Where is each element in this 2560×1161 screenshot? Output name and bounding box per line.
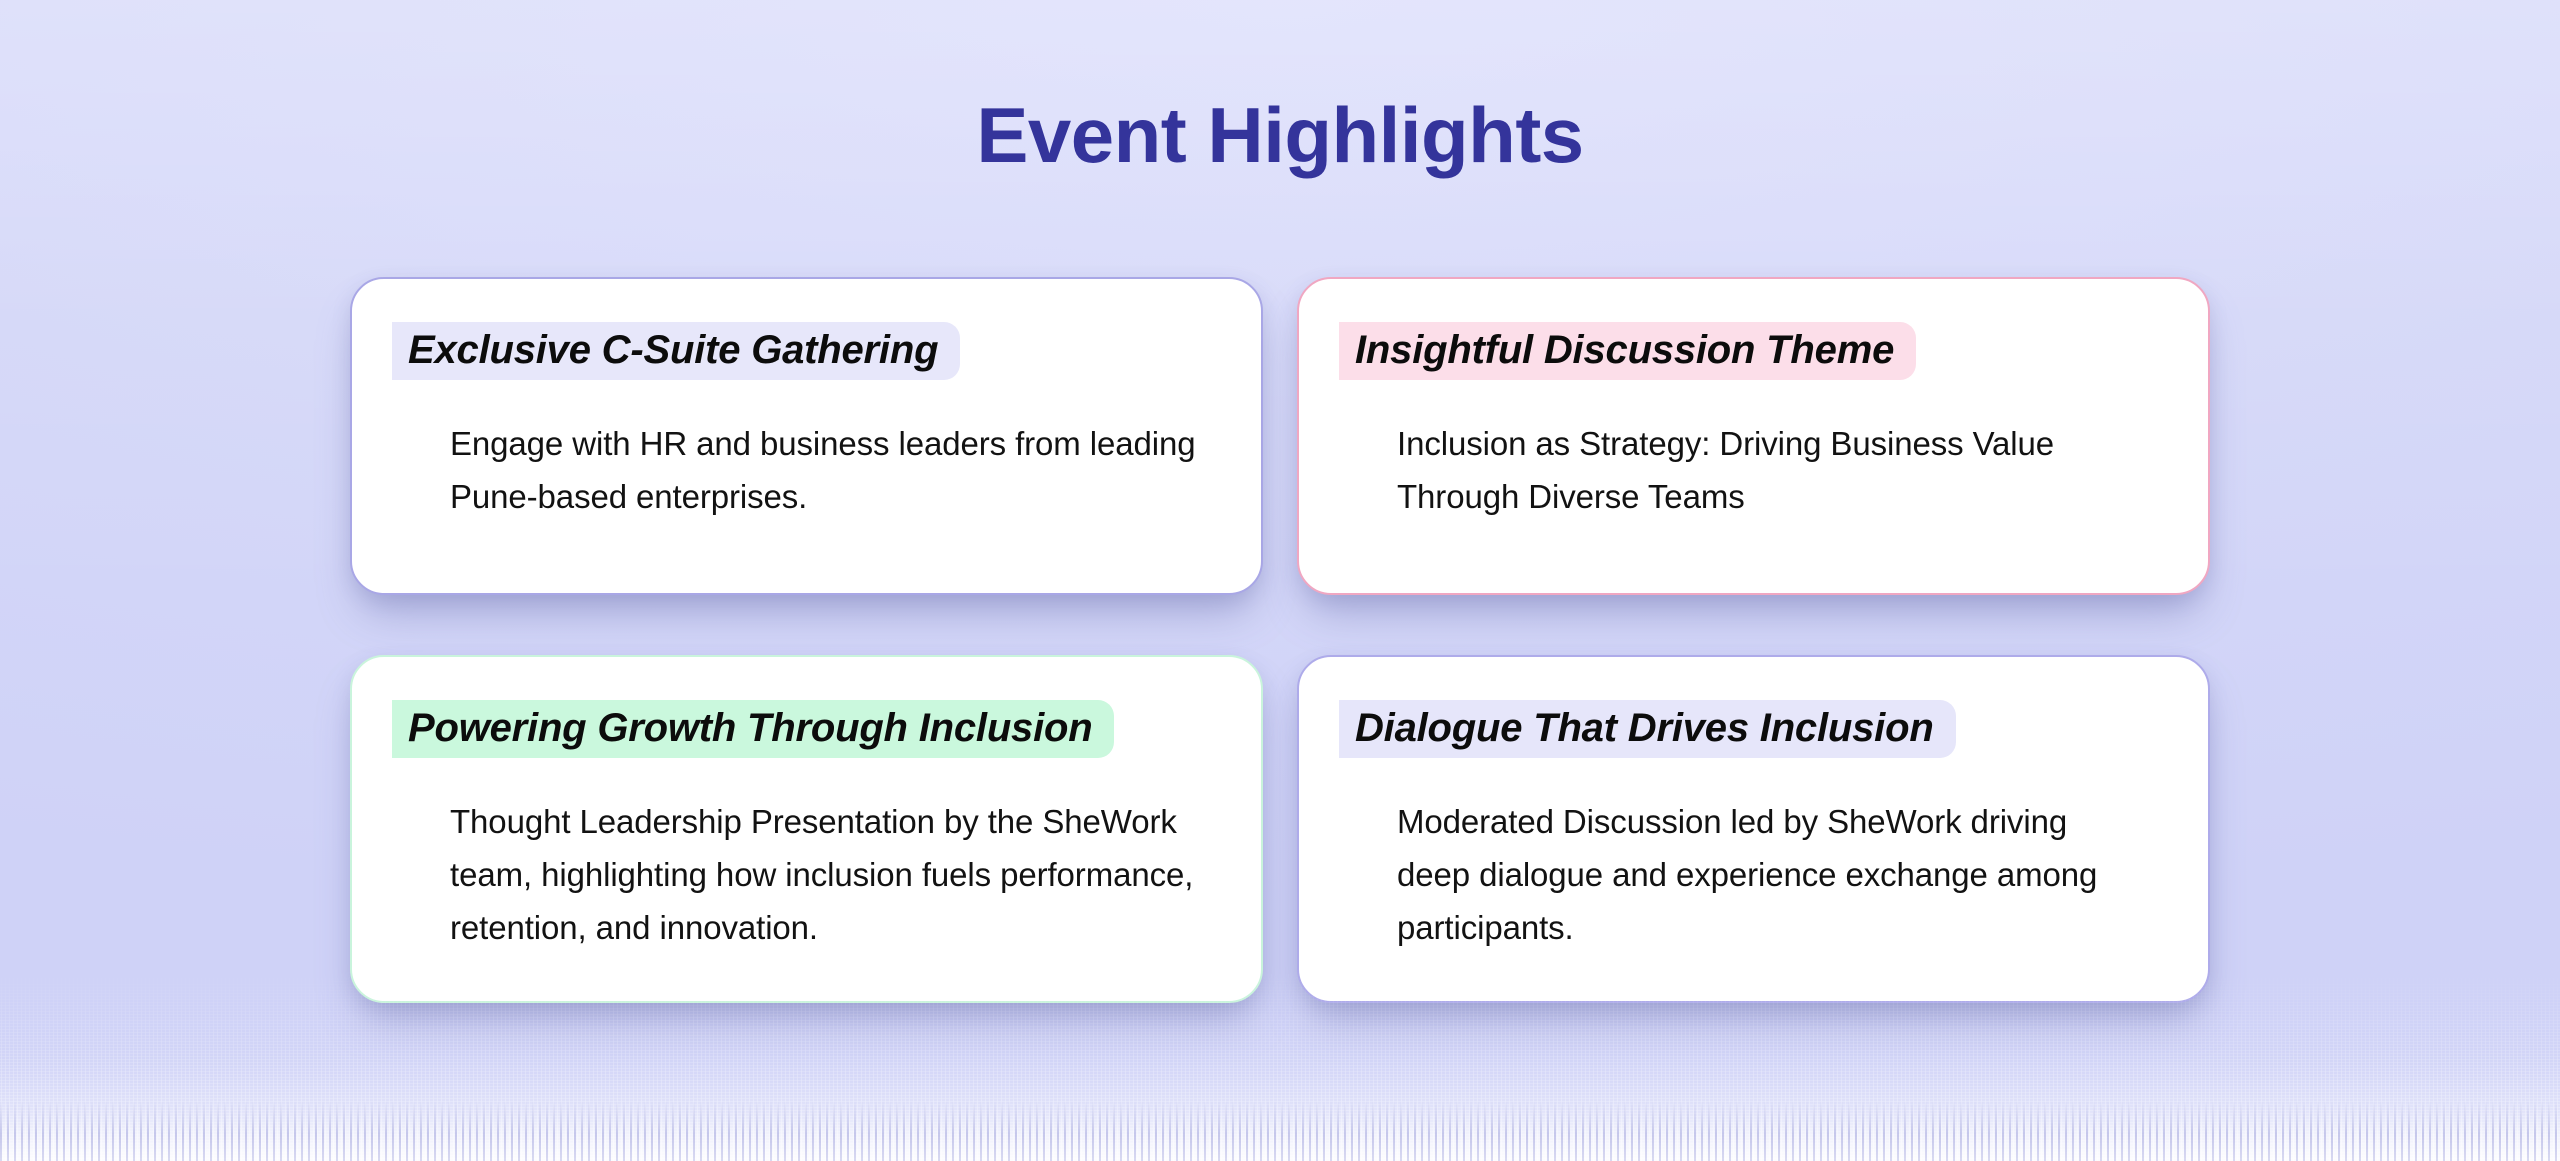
bottom-dither-band [0,1101,2560,1161]
card-heading-row: Exclusive C-Suite Gathering [392,321,1217,380]
card-body: Thought Leadership Presentation by the S… [392,796,1217,954]
highlight-card-insightful-discussion-theme[interactable]: Insightful Discussion Theme Inclusion as… [1297,277,2210,595]
card-heading-row: Powering Growth Through Inclusion [392,699,1217,758]
card-heading: Powering Growth Through Inclusion [392,700,1114,758]
card-heading: Insightful Discussion Theme [1339,322,1916,380]
card-heading: Exclusive C-Suite Gathering [392,322,960,380]
card-heading-row: Insightful Discussion Theme [1339,321,2164,380]
card-heading: Dialogue That Drives Inclusion [1339,700,1956,758]
page-title: Event Highlights [0,96,2560,174]
card-body: Engage with HR and business leaders from… [392,418,1217,524]
highlight-card-exclusive-c-suite-gathering[interactable]: Exclusive C-Suite Gathering Engage with … [350,277,1263,595]
highlight-card-powering-growth-through-inclusion[interactable]: Powering Growth Through Inclusion Though… [350,655,1263,1003]
highlight-card-grid: Exclusive C-Suite Gathering Engage with … [350,277,2210,1003]
card-body: Moderated Discussion led by SheWork driv… [1339,796,2164,954]
event-highlights-slide: Event Highlights Exclusive C-Suite Gathe… [0,0,2560,1161]
highlight-card-dialogue-that-drives-inclusion[interactable]: Dialogue That Drives Inclusion Moderated… [1297,655,2210,1003]
card-heading-row: Dialogue That Drives Inclusion [1339,699,2164,758]
card-body: Inclusion as Strategy: Driving Business … [1339,418,2164,524]
